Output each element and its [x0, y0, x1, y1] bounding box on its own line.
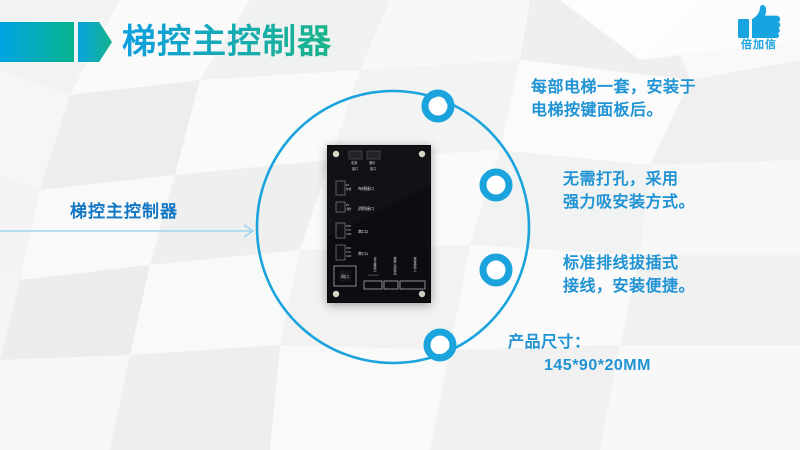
- feature-note-2-line1: 无需打孔，采用: [563, 171, 679, 188]
- svg-text:串口1: 串口1: [358, 250, 369, 256]
- diagram-node-3: [483, 257, 509, 283]
- svg-text:GND: GND: [346, 233, 352, 236]
- svg-text:楼层火线输出: 楼层火线输出: [393, 256, 397, 276]
- product-image-controller-board: 电源 通讯 接口 接口 P1布线 布线接口 P2消防 消防接口 RXDTXDGN…: [327, 145, 431, 303]
- svg-text:1 2 3 4 5 6: 1 2 3 4 5 6: [368, 275, 379, 277]
- feature-note-1-line2: 电梯按键面板后。: [531, 99, 696, 122]
- thumbs-up-icon: [736, 4, 782, 40]
- slide-canvas: 梯控主控制器 倍加信 梯控主控制器: [0, 0, 800, 450]
- product-dimensions-value: 145*90*20MM: [544, 354, 651, 377]
- svg-text:RXD: RXD: [346, 247, 351, 250]
- svg-text:网口: 网口: [341, 274, 349, 279]
- feature-note-2-line2: 强力吸安装方式。: [563, 191, 695, 214]
- feature-note-1-line1: 每部电梯一套，安装于: [531, 79, 696, 96]
- svg-text:串口2: 串口2: [358, 228, 369, 234]
- pcb-illustration: 电源 通讯 接口 接口 P1布线 布线接口 P2消防 消防接口 RXDTXDGN…: [327, 145, 431, 303]
- left-callout-label: 梯控主控制器: [70, 197, 178, 222]
- svg-text:GND: GND: [346, 255, 352, 258]
- feature-note-3-line1: 标准排线拔插式: [563, 255, 679, 272]
- feature-note-2: 无需打孔，采用 强力吸安装方式。: [563, 168, 695, 214]
- header-accent-bar: [0, 22, 74, 62]
- svg-text:读卡器接口: 读卡器接口: [373, 256, 377, 273]
- feature-note-1: 每部电梯一套，安装于 电梯按键面板后。: [531, 76, 696, 122]
- product-dimensions-label: 产品尺寸：: [508, 334, 591, 351]
- feature-note-3: 标准排线拔插式 接线，安装便捷。: [563, 252, 695, 298]
- page-title: 梯控主控制器: [122, 20, 332, 64]
- pointer-arrow-icon: [0, 220, 262, 242]
- diagram-node-2: [483, 172, 509, 198]
- brand-logo: 倍加信: [728, 4, 790, 56]
- svg-text:TXD: TXD: [346, 229, 351, 232]
- feature-note-3-line2: 接线，安装便捷。: [563, 275, 695, 298]
- svg-text:TXD: TXD: [346, 251, 351, 254]
- product-dimensions: 产品尺寸： 145*90*20MM: [508, 331, 651, 377]
- brand-name: 倍加信: [728, 39, 790, 51]
- svg-text:按钮线输入: 按钮线输入: [413, 256, 417, 272]
- diagram-node-1: [425, 93, 451, 119]
